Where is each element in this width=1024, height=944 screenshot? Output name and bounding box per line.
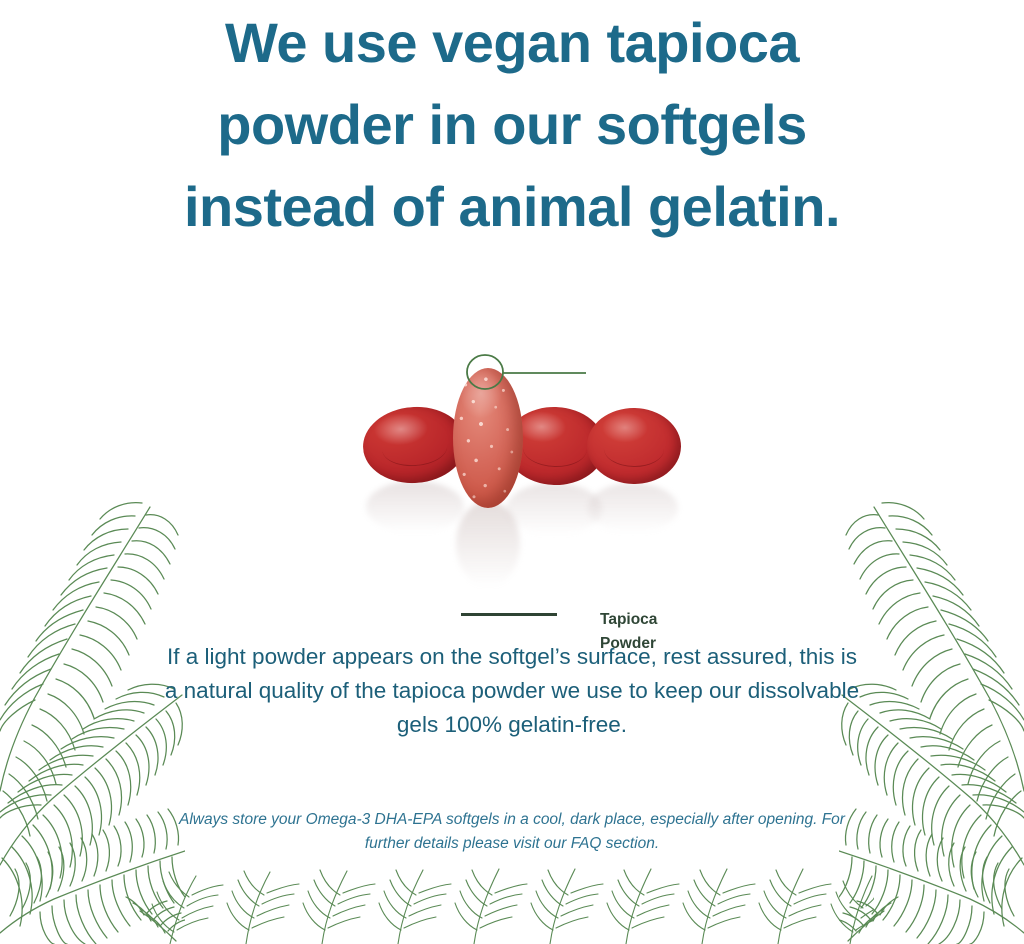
tapioca-powder-texture <box>453 368 523 508</box>
headline-line-1: We use vegan tapioca <box>0 2 1024 84</box>
softgel-reflection <box>366 481 464 533</box>
body-paragraph: If a light powder appears on the softgel… <box>162 640 862 742</box>
softgel-stage <box>0 255 1024 595</box>
softgel-seam-line <box>604 430 665 467</box>
fine-print-paragraph: Always store your Omega-3 DHA-EPA softge… <box>162 808 862 856</box>
callout-label-line-1: Tapioca <box>600 608 657 632</box>
softgel-figure: Tapioca Powder <box>0 255 1024 595</box>
headline-line-3: instead of animal gelatin. <box>0 166 1024 248</box>
powdered-softgel <box>453 368 523 508</box>
body-copy: If a light powder appears on the softgel… <box>162 640 862 742</box>
fine-print: Always store your Omega-3 DHA-EPA softge… <box>162 808 862 856</box>
section-divider <box>461 613 557 616</box>
softgel-reflection <box>588 483 678 533</box>
softgel-seam-line <box>522 429 587 468</box>
headline-line-2: powder in our softgels <box>0 84 1024 166</box>
red-softgel <box>586 407 681 485</box>
palm-frond-icon-bottom <box>150 854 874 944</box>
softgel-seam-line <box>381 428 449 468</box>
powdered-softgel-reflection <box>456 501 520 587</box>
page-headline: We use vegan tapioca powder in our softg… <box>0 0 1024 248</box>
